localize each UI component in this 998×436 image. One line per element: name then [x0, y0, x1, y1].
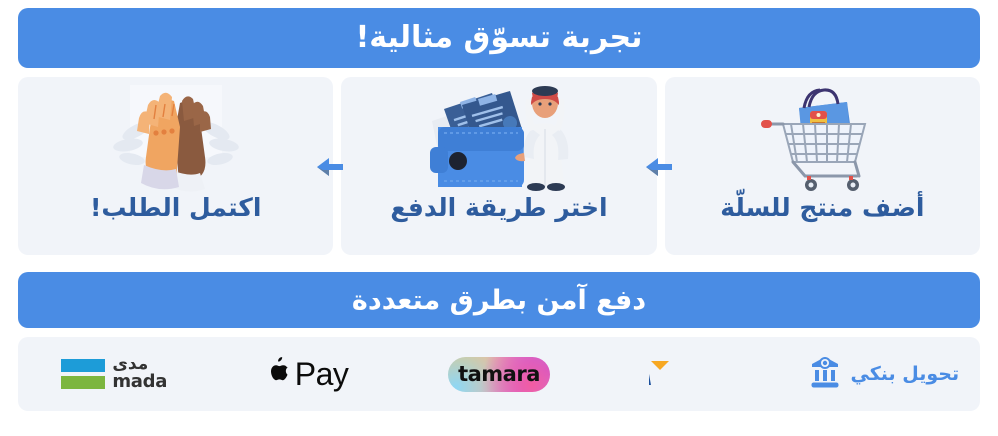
payment-methods-row: تحويل بنكي VISA tamara	[18, 337, 980, 411]
svg-text:VISA: VISA	[649, 363, 652, 391]
bank-icon	[808, 355, 842, 393]
shopping-cart-with-bag-illustration	[665, 77, 980, 195]
mada-bar-blue	[61, 359, 105, 372]
apple-pay-label: Pay	[295, 358, 349, 390]
mada-bar-green	[61, 376, 105, 389]
mada-label-english: mada	[112, 373, 167, 392]
wallet-with-cards-and-person-illustration	[341, 77, 656, 195]
payment-method-apple-pay[interactable]: Pay	[210, 337, 402, 411]
tamara-label: tamara	[458, 362, 540, 386]
step-label-order-complete: اكتمل الطلب!	[90, 195, 261, 220]
bank-transfer-label: تحويل بنكي	[850, 363, 959, 385]
secure-payment-banner: دفع آمن بطرق متعددة	[18, 272, 980, 328]
payment-method-tamara[interactable]: tamara	[403, 337, 595, 411]
payment-method-bank-transfer[interactable]: تحويل بنكي	[788, 337, 980, 411]
step-label-add-to-cart: أضف منتج للسلّة	[720, 195, 924, 220]
payment-method-visa[interactable]: VISA	[595, 337, 787, 411]
payment-method-mada[interactable]: مدى mada	[18, 337, 210, 411]
apple-icon	[265, 356, 291, 392]
mada-logo: مدى mada	[61, 356, 167, 393]
step-card-order-complete[interactable]: اكتمل الطلب!	[18, 77, 333, 255]
secure-payment-banner-title: دفع آمن بطرق متعددة	[352, 287, 646, 314]
visa-logo: VISA	[649, 356, 733, 392]
apple-pay-logo: Pay	[265, 356, 349, 392]
promo-banner-page: تجربة تسوّق مثالية!	[0, 0, 998, 436]
header-banner-shopping-experience: تجربة تسوّق مثالية!	[18, 8, 980, 68]
step-card-add-to-cart[interactable]: أضف منتج للسلّة	[665, 77, 980, 255]
step-label-choose-payment: اختر طريقة الدفع	[390, 195, 607, 220]
tamara-logo: tamara	[448, 357, 550, 392]
steps-row: أضف منتج للسلّة	[18, 77, 980, 255]
header-banner-title: تجربة تسوّق مثالية!	[356, 23, 643, 53]
clapping-hands-illustration	[18, 77, 333, 195]
mada-bars	[61, 359, 105, 389]
step-card-choose-payment[interactable]: اختر طريقة الدفع	[341, 77, 656, 255]
